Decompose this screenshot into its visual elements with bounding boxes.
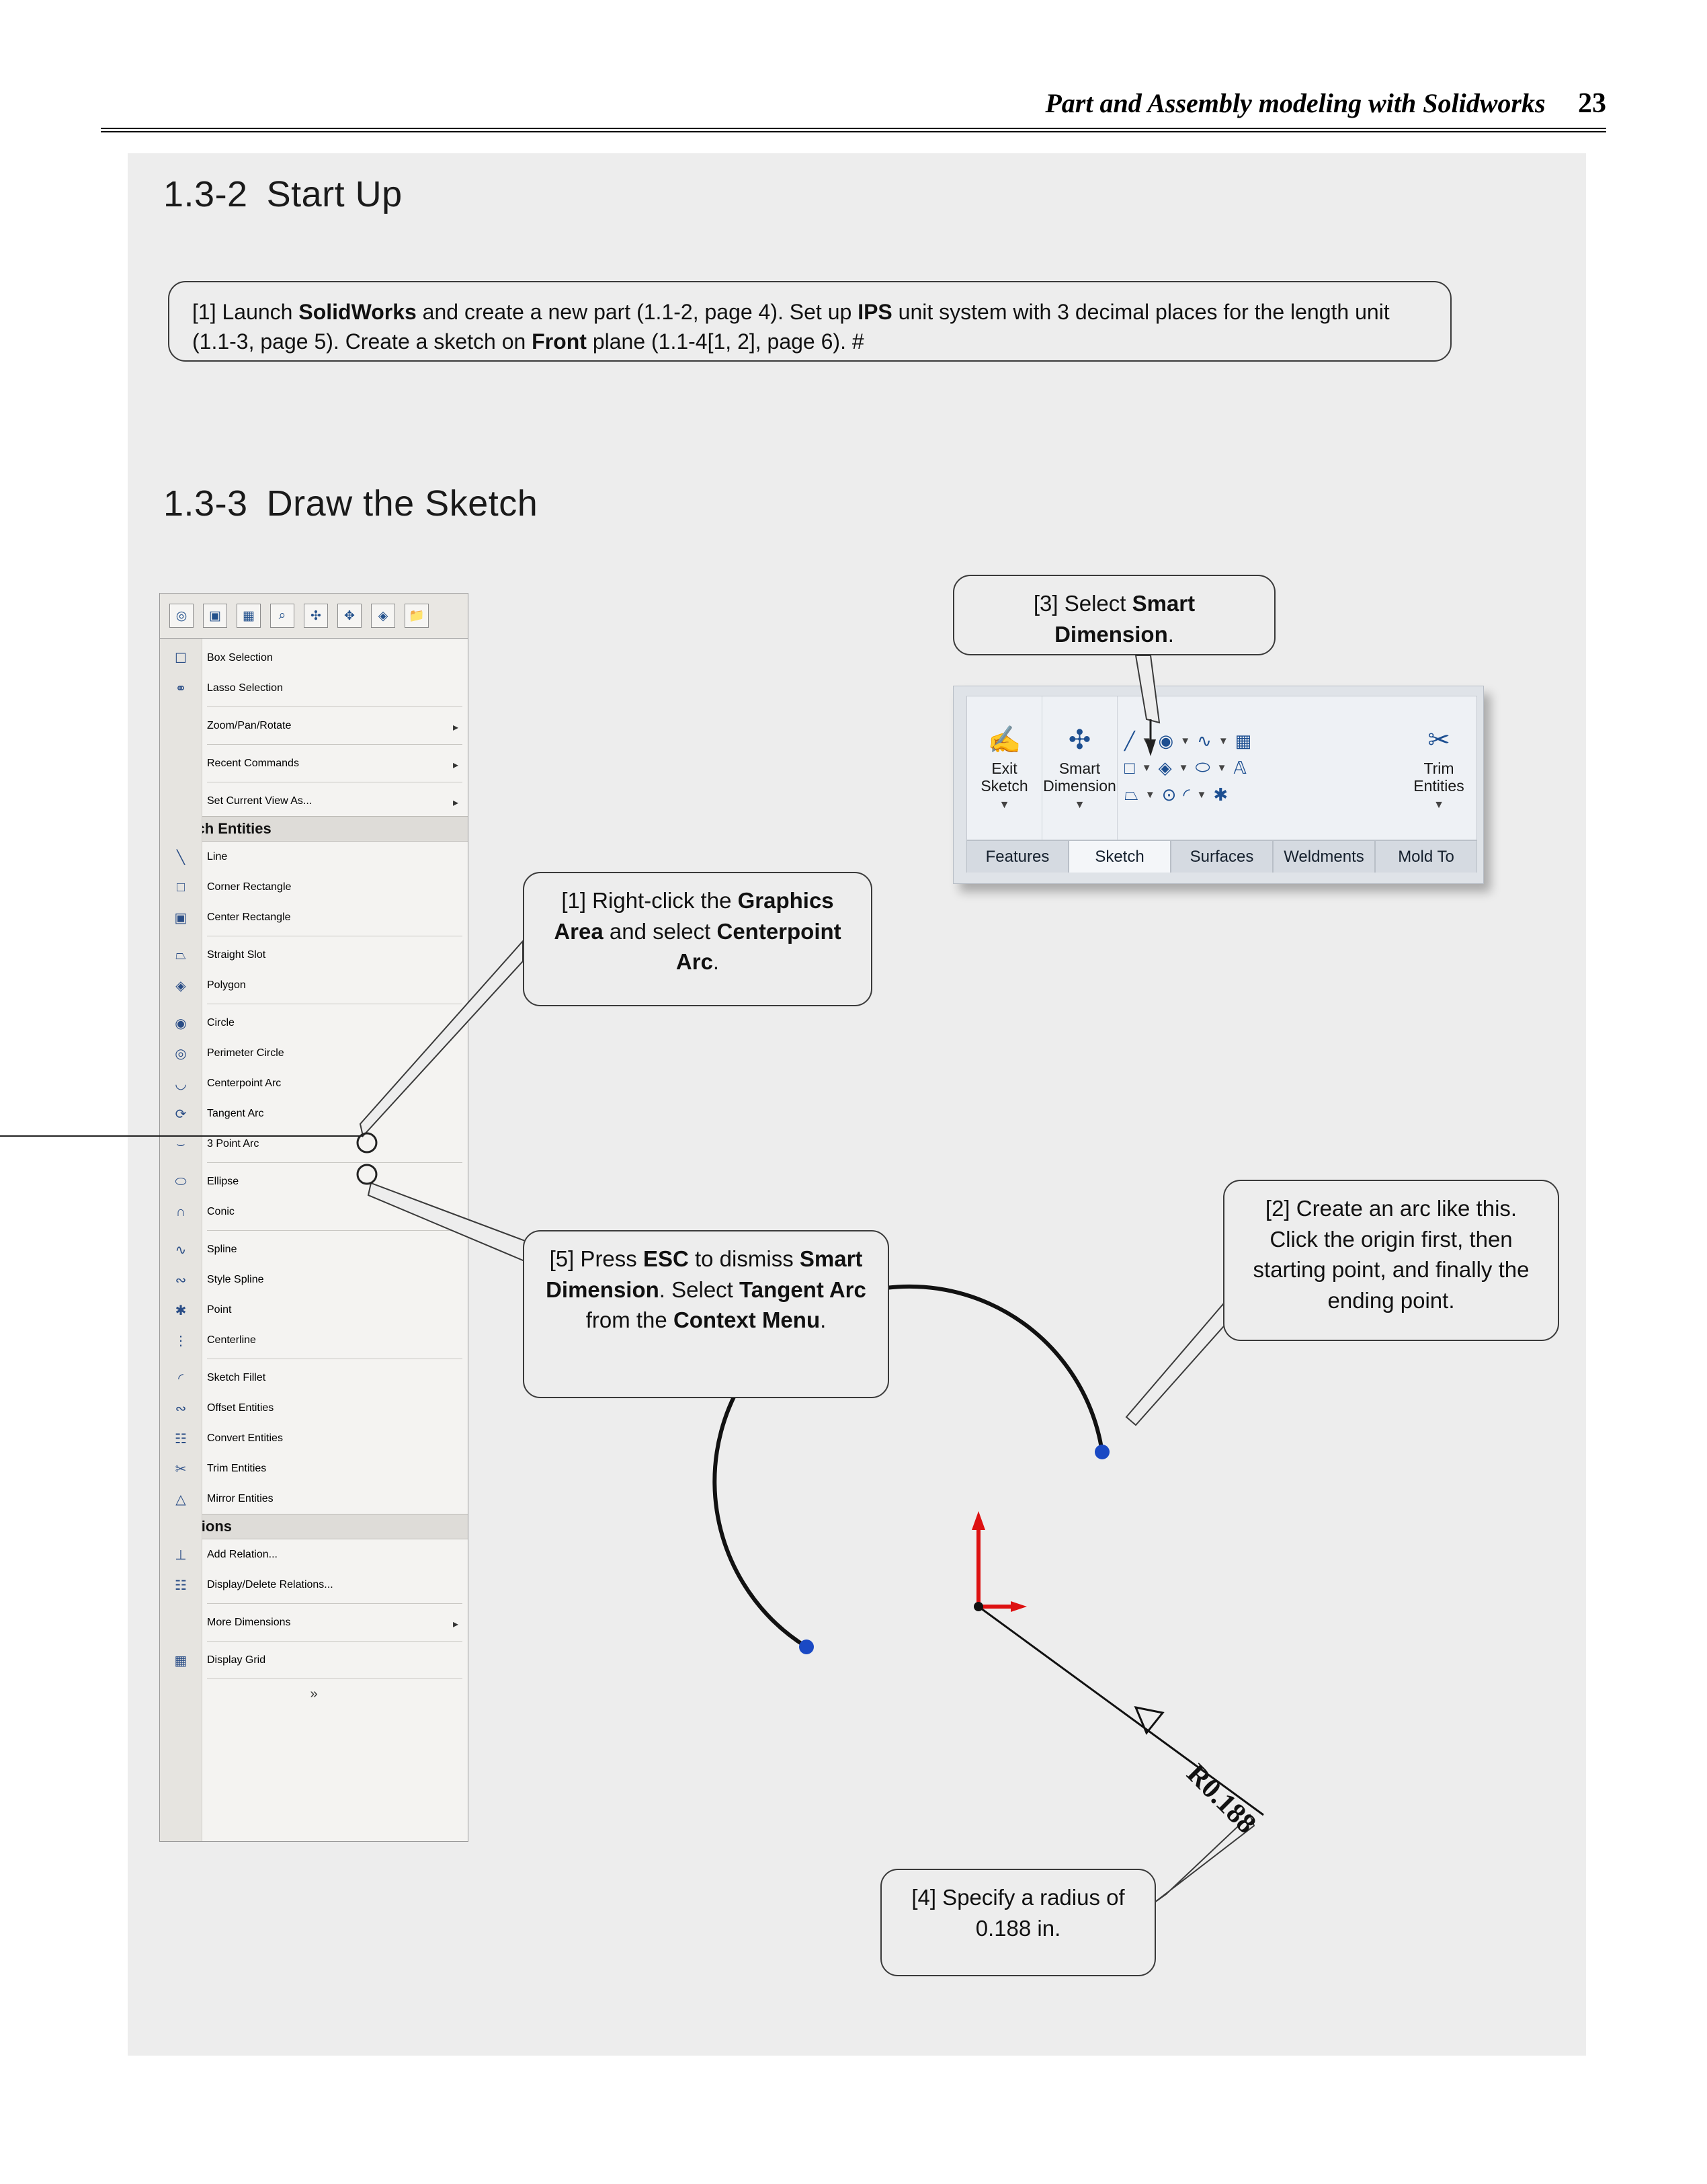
callout-step1-instruction: [1] Launch SolidWorks and create a new p… bbox=[168, 281, 1452, 362]
zoom-icon[interactable]: ⌕ bbox=[270, 604, 294, 628]
menu-item-label: Display/Delete Relations... bbox=[207, 1579, 333, 1591]
menu-group-relations: Relations bbox=[160, 1514, 468, 1539]
smart-dimension-button[interactable]: ✣ Smart Dimension ▼ bbox=[1042, 696, 1118, 840]
dropdown-arrow-icon[interactable]: ▼ bbox=[1179, 762, 1189, 774]
polygon-icon[interactable]: ◈ bbox=[1159, 758, 1172, 778]
menu-item-conic[interactable]: ∩ Conic bbox=[160, 1197, 468, 1227]
menu-item-lasso-selection[interactable]: ⚭ Lasso Selection bbox=[160, 673, 468, 703]
rectangle-icon[interactable]: □ bbox=[1124, 758, 1135, 778]
centerline-icon: ⋮ bbox=[168, 1330, 194, 1350]
dropdown-arrow-icon[interactable]: ▼ bbox=[1197, 789, 1207, 801]
callout-step2: [2] Create an arc like this. Click the o… bbox=[1223, 1180, 1559, 1341]
folder-icon[interactable]: 📁 bbox=[405, 604, 429, 628]
menu-item-ellipse[interactable]: ⬭ Ellipse bbox=[160, 1166, 468, 1197]
menu-separator bbox=[207, 1679, 462, 1679]
menu-separator bbox=[207, 782, 462, 782]
menu-item-display-grid[interactable]: ▦ Display Grid bbox=[160, 1645, 468, 1675]
menu-item-label: Sketch Fillet bbox=[207, 1372, 265, 1384]
exit-sketch-icon: ✍ bbox=[988, 725, 1022, 756]
tab-label: Features bbox=[986, 848, 1050, 866]
surface-icon[interactable]: ▦ bbox=[1235, 731, 1252, 752]
box-selection-icon: ☐ bbox=[168, 648, 194, 668]
dropdown-arrow-icon[interactable]: ▼ bbox=[1145, 789, 1155, 801]
button-label-line1: Smart bbox=[1059, 760, 1100, 777]
point-icon: ✱ bbox=[168, 1300, 194, 1320]
menu-separator bbox=[207, 1359, 462, 1359]
button-label-line1: Trim bbox=[1423, 760, 1454, 777]
menu-item-tangent-arc[interactable]: ⟳ Tangent Arc bbox=[160, 1098, 468, 1129]
tangent-arc-icon: ⟳ bbox=[168, 1104, 194, 1124]
section-heading-draw-sketch: 1.3-3Draw the Sketch bbox=[163, 483, 538, 524]
callout-step5: [5] Press ESC to dismiss Smart Dimension… bbox=[523, 1230, 889, 1398]
menu-separator bbox=[207, 1004, 462, 1004]
menu-item-center-rectangle[interactable]: ▣ Center Rectangle bbox=[160, 902, 468, 932]
menu-item-label: Tangent Arc bbox=[207, 1108, 264, 1120]
spline-icon[interactable]: ∿ bbox=[1197, 731, 1212, 752]
menu-item-zoom-pan-rotate[interactable]: Zoom/Pan/Rotate ▸ bbox=[160, 711, 468, 741]
context-toolbar[interactable]: ◎ ▣ ▦ ⌕ ✣ ✥ ◈ 📁 bbox=[159, 593, 468, 639]
dropdown-arrow-icon[interactable]: ▼ bbox=[999, 799, 1010, 811]
menu-item-centerline[interactable]: ⋮ Centerline bbox=[160, 1325, 468, 1355]
menu-item-offset-entities[interactable]: ∾ Offset Entities bbox=[160, 1393, 468, 1423]
menu-item-straight-slot[interactable]: ⏢ Straight Slot bbox=[160, 940, 468, 970]
menu-item-label: Offset Entities bbox=[207, 1402, 274, 1414]
line-icon: ╲ bbox=[168, 847, 194, 867]
menu-item-label: Line bbox=[207, 851, 227, 863]
view-orientation-icon[interactable]: ▣ bbox=[203, 604, 227, 628]
menu-item-label: Lasso Selection bbox=[207, 682, 283, 694]
chevron-right-icon: ▸ bbox=[453, 721, 458, 734]
menu-item-corner-rectangle[interactable]: □ Corner Rectangle bbox=[160, 872, 468, 902]
menu-item-recent-commands[interactable]: Recent Commands ▸ bbox=[160, 748, 468, 778]
offset-entities-icon: ∾ bbox=[168, 1398, 194, 1418]
menu-item-3-point-arc[interactable]: ⌣ 3 Point Arc bbox=[160, 1129, 468, 1159]
menu-item-label: Circle bbox=[207, 1017, 235, 1029]
menu-item-line[interactable]: ╲ Line bbox=[160, 842, 468, 872]
display-delete-relations-icon: ☷ bbox=[168, 1575, 194, 1595]
tool-row-1[interactable]: ╱▼ ◉▼ ∿▼ ▦ bbox=[1124, 731, 1394, 752]
exit-sketch-button[interactable]: ✍ Exit Sketch ▼ bbox=[967, 696, 1042, 840]
menu-separator bbox=[207, 1162, 462, 1163]
header-rule bbox=[101, 128, 1606, 132]
section-number: 1.3-3 bbox=[163, 483, 248, 524]
menu-item-label: Conic bbox=[207, 1206, 235, 1218]
menu-item-point[interactable]: ✱ Point bbox=[160, 1295, 468, 1325]
menu-item-label: More Dimensions bbox=[207, 1617, 290, 1629]
button-label-line2: Sketch bbox=[981, 777, 1028, 795]
menu-item-add-relation[interactable]: ⊥ Add Relation... bbox=[160, 1539, 468, 1570]
tab-features[interactable]: Features bbox=[966, 840, 1069, 873]
tab-label: Sketch bbox=[1095, 848, 1144, 866]
expand-menu-chevron-icon[interactable]: » bbox=[160, 1683, 468, 1702]
menu-item-style-spline[interactable]: ∾ Style Spline bbox=[160, 1264, 468, 1295]
menu-item-label: Trim Entities bbox=[207, 1463, 266, 1475]
dropdown-arrow-icon[interactable]: ▼ bbox=[1433, 799, 1444, 811]
menu-item-label: Center Rectangle bbox=[207, 912, 291, 924]
menu-item-spline[interactable]: ∿ Spline bbox=[160, 1234, 468, 1264]
tool-row-2[interactable]: □▼ ◈▼ ⬭▼ 𝔸 bbox=[1124, 757, 1394, 778]
callout-step3: [3] Select Smart Dimension. bbox=[953, 575, 1276, 655]
menu-separator bbox=[207, 936, 462, 936]
trim-entities-button[interactable]: ✂ Trim Entities ▼ bbox=[1401, 696, 1476, 840]
menu-item-label: Point bbox=[207, 1304, 231, 1316]
callout-step4: [4] Specify a radius of 0.188 in. bbox=[880, 1869, 1156, 1976]
straight-slot-icon: ⏢ bbox=[168, 945, 194, 965]
menu-item-trim-entities[interactable]: ✂ Trim Entities bbox=[160, 1453, 468, 1484]
mirror-entities-icon: △ bbox=[168, 1489, 194, 1509]
circle-icon: ◉ bbox=[168, 1013, 194, 1033]
tab-surfaces[interactable]: Surfaces bbox=[1171, 840, 1273, 873]
convert-entities-icon: ☷ bbox=[168, 1428, 194, 1449]
conic-icon: ∩ bbox=[168, 1202, 194, 1222]
line-icon[interactable]: ╱ bbox=[1124, 731, 1135, 752]
tool-row-3[interactable]: ⏢▼ ⊙ ◜▼ ✱ bbox=[1124, 784, 1394, 805]
trim-entities-icon: ✂ bbox=[168, 1459, 194, 1479]
chevron-right-icon: ▸ bbox=[453, 796, 458, 809]
menu-item-polygon[interactable]: ◈ Polygon bbox=[160, 970, 468, 1000]
section-title: Start Up bbox=[267, 174, 403, 214]
menu-separator bbox=[207, 1230, 462, 1231]
section-heading-start-up: 1.3-2Start Up bbox=[163, 173, 403, 215]
tab-label: Weldments bbox=[1284, 848, 1364, 866]
menu-item-label: Box Selection bbox=[207, 652, 273, 664]
tab-weldments[interactable]: Weldments bbox=[1273, 840, 1375, 873]
smart-dimension-icon[interactable]: ✣ bbox=[304, 604, 328, 628]
menu-item-label: Straight Slot bbox=[207, 949, 265, 961]
menu-item-label: Centerpoint Arc bbox=[207, 1078, 281, 1090]
sketch-tool-grid[interactable]: ╱▼ ◉▼ ∿▼ ▦ □▼ ◈▼ ⬭▼ 𝔸 ⏢▼ ⊙ ◜▼ ✱ bbox=[1118, 696, 1401, 840]
style-spline-icon: ∾ bbox=[168, 1270, 194, 1290]
corner-rectangle-icon: □ bbox=[168, 877, 194, 897]
menu-item-label: Perimeter Circle bbox=[207, 1047, 284, 1059]
add-relation-icon: ⊥ bbox=[168, 1545, 194, 1565]
ribbon-toolbar[interactable]: ✍ Exit Sketch ▼ ✣ Smart Dimension ▼ ╱▼ ◉… bbox=[966, 696, 1477, 840]
menu-item-label: Centerline bbox=[207, 1334, 256, 1346]
tab-label: Mold To bbox=[1398, 848, 1454, 866]
menu-item-label: Corner Rectangle bbox=[207, 881, 291, 893]
button-label-line2: Dimension bbox=[1043, 777, 1116, 795]
menu-item-label: Polygon bbox=[207, 979, 246, 992]
tab-sketch[interactable]: Sketch bbox=[1069, 840, 1171, 873]
menu-item-label: 3 Point Arc bbox=[207, 1138, 259, 1150]
menu-item-more-dimensions[interactable]: More Dimensions ▸ bbox=[160, 1607, 468, 1637]
menu-item-label: Add Relation... bbox=[207, 1549, 278, 1561]
menu-item-label: Style Spline bbox=[207, 1274, 264, 1286]
button-label-line2: Entities bbox=[1413, 777, 1464, 795]
dropdown-arrow-icon[interactable]: ▼ bbox=[1180, 735, 1190, 747]
text-icon[interactable]: 𝔸 bbox=[1234, 758, 1247, 778]
menu-item-box-selection[interactable]: ☐ Box Selection bbox=[160, 643, 468, 673]
dropdown-arrow-icon[interactable]: ▼ bbox=[1217, 762, 1227, 774]
dropdown-arrow-icon[interactable]: ▼ bbox=[1218, 735, 1229, 747]
menu-item-label: Mirror Entities bbox=[207, 1493, 274, 1505]
smart-dimension-icon: ✣ bbox=[1069, 725, 1091, 756]
trim-entities-icon: ✂ bbox=[1427, 725, 1450, 756]
center-rectangle-icon: ▣ bbox=[168, 907, 194, 928]
menu-separator bbox=[207, 706, 462, 707]
dropdown-arrow-icon[interactable]: ▼ bbox=[1142, 735, 1152, 747]
three-point-arc-icon: ⌣ bbox=[168, 1134, 194, 1154]
page-header: Part and Assembly modeling with Solidwor… bbox=[101, 87, 1606, 120]
tab-label: Surfaces bbox=[1190, 848, 1254, 866]
menu-item-mirror-entities[interactable]: △ Mirror Entities bbox=[160, 1484, 468, 1514]
menu-item-sketch-fillet[interactable]: ◜ Sketch Fillet bbox=[160, 1363, 468, 1393]
zoom-to-fit-icon[interactable]: ◎ bbox=[169, 604, 194, 628]
section-title: Draw the Sketch bbox=[267, 483, 538, 524]
lasso-selection-icon: ⚭ bbox=[168, 678, 194, 698]
fillet-icon[interactable]: ◜ bbox=[1183, 784, 1190, 805]
menu-item-label: Ellipse bbox=[207, 1176, 239, 1188]
point-icon[interactable]: ⊙ bbox=[1162, 784, 1177, 805]
polygon-icon: ◈ bbox=[168, 975, 194, 996]
menu-item-convert-entities[interactable]: ☷ Convert Entities bbox=[160, 1423, 468, 1453]
menu-item-label: Set Current View As... bbox=[207, 795, 312, 807]
context-menu[interactable]: ☐ Box Selection ⚭ Lasso Selection Zoom/P… bbox=[159, 639, 468, 1842]
menu-item-label: Convert Entities bbox=[207, 1432, 283, 1445]
tab-mold-tools[interactable]: Mold To bbox=[1375, 840, 1477, 873]
menu-item-circle[interactable]: ◉ Circle bbox=[160, 1008, 468, 1038]
line-icon[interactable]: ✥ bbox=[337, 604, 362, 628]
dropdown-arrow-icon[interactable]: ▼ bbox=[1075, 799, 1085, 811]
menu-item-set-current-view-as[interactable]: Set Current View As... ▸ bbox=[160, 786, 468, 816]
display-grid-icon: ▦ bbox=[168, 1650, 194, 1670]
display-style-icon[interactable]: ▦ bbox=[237, 604, 261, 628]
construction-icon[interactable]: ✱ bbox=[1213, 784, 1228, 805]
ribbon-tab-bar[interactable]: Features Sketch Surfaces Weldments Mold … bbox=[966, 840, 1477, 873]
page-number: 23 bbox=[1578, 88, 1606, 119]
dropdown-arrow-icon[interactable]: ▼ bbox=[1142, 762, 1152, 774]
button-label-line1: Exit bbox=[991, 760, 1017, 777]
book-title: Part and Assembly modeling with Solidwor… bbox=[1045, 88, 1545, 118]
perimeter-circle-icon: ◎ bbox=[168, 1043, 194, 1063]
ellipse-icon[interactable]: ⬭ bbox=[1195, 757, 1210, 778]
ellipse-icon: ⬭ bbox=[168, 1172, 194, 1192]
sketch-fillet-icon: ◜ bbox=[168, 1368, 194, 1388]
menu-group-sketch-entities: Sketch Entities bbox=[160, 816, 468, 842]
chevron-right-icon: ▸ bbox=[453, 1617, 458, 1631]
spline-icon: ∿ bbox=[168, 1240, 194, 1260]
centerpoint-arc-icon: ◡ bbox=[168, 1074, 194, 1094]
chevron-right-icon: ▸ bbox=[453, 758, 458, 772]
menu-item-label: Zoom/Pan/Rotate bbox=[207, 720, 291, 732]
section-number: 1.3-2 bbox=[163, 174, 248, 214]
callout-step1-right-click: [1] Right-click the Graphics Area and se… bbox=[523, 872, 872, 1006]
menu-item-centerpoint-arc[interactable]: ◡ Centerpoint Arc bbox=[160, 1068, 468, 1098]
slot-icon[interactable]: ⏢ bbox=[1124, 784, 1138, 805]
menu-item-perimeter-circle[interactable]: ◎ Perimeter Circle bbox=[160, 1038, 468, 1068]
circle-icon[interactable]: ◈ bbox=[371, 604, 395, 628]
menu-item-label: Recent Commands bbox=[207, 758, 299, 770]
menu-item-display-delete-relations[interactable]: ☷ Display/Delete Relations... bbox=[160, 1570, 468, 1600]
circle-icon[interactable]: ◉ bbox=[1159, 731, 1174, 752]
menu-item-label: Display Grid bbox=[207, 1654, 265, 1666]
menu-item-label: Spline bbox=[207, 1244, 237, 1256]
menu-separator bbox=[207, 1641, 462, 1642]
menu-separator bbox=[207, 1603, 462, 1604]
menu-separator bbox=[207, 744, 462, 745]
